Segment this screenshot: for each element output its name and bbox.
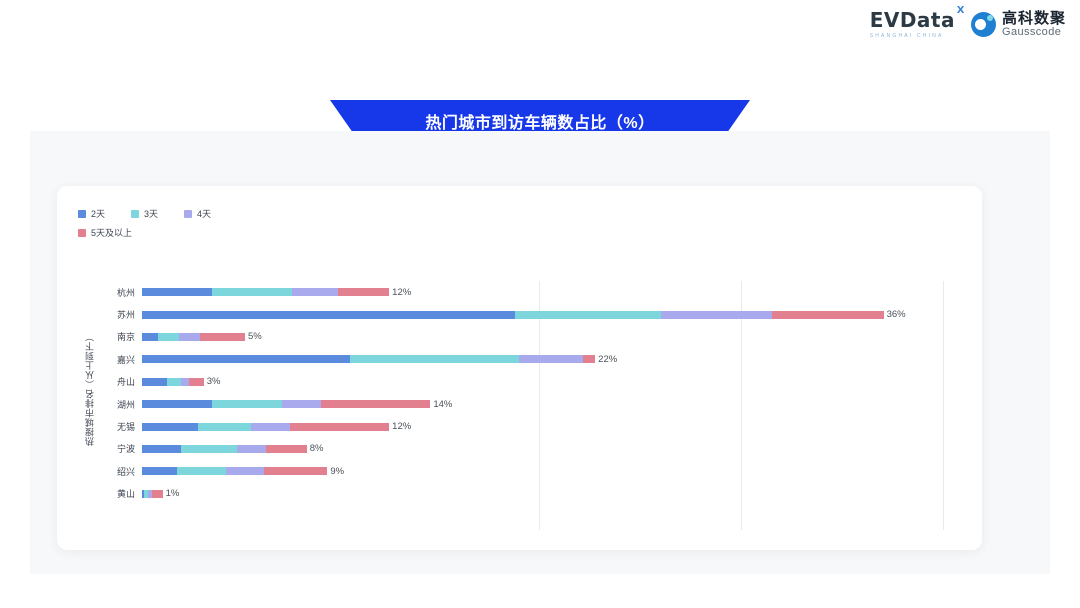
chart-row: 南京5%	[98, 326, 972, 348]
gausscode-name-cn: 高科数聚	[1002, 11, 1066, 27]
bar-segment[interactable]	[181, 445, 237, 453]
chart-card: 2天3天4天5天及以上 热搜城市排名（从上到下） 杭州12%苏州36%南京5%嘉…	[57, 186, 982, 550]
bar-segment[interactable]	[266, 445, 307, 453]
chart-row: 舟山3%	[98, 371, 972, 393]
bar-segment[interactable]	[264, 467, 328, 475]
bar-value-label: 5%	[248, 331, 262, 342]
bar-with-label: 36%	[142, 309, 906, 320]
category-label: 无锡	[98, 420, 142, 433]
bar-segment[interactable]	[142, 355, 350, 363]
bar-with-label: 1%	[142, 488, 179, 499]
bar-segment[interactable]	[142, 378, 167, 386]
bar-area: 3%	[142, 371, 972, 393]
bar-segment[interactable]	[158, 333, 179, 341]
category-label: 宁波	[98, 442, 142, 455]
category-label: 绍兴	[98, 465, 142, 478]
bar-segment[interactable]	[142, 423, 198, 431]
bar-value-label: 3%	[207, 376, 221, 387]
bar-segment[interactable]	[179, 333, 200, 341]
bar-segment[interactable]	[292, 288, 337, 296]
bar-segment[interactable]	[189, 378, 203, 386]
bar-area: 22%	[142, 348, 972, 370]
bar-segment[interactable]	[198, 423, 252, 431]
chart-row: 湖州14%	[98, 393, 972, 415]
stacked-bar[interactable]	[142, 378, 204, 386]
category-label: 南京	[98, 330, 142, 343]
bar-value-label: 12%	[392, 287, 411, 298]
category-label: 杭州	[98, 286, 142, 299]
bar-segment[interactable]	[237, 445, 266, 453]
bar-with-label: 22%	[142, 354, 617, 365]
bar-area: 1%	[142, 483, 972, 505]
category-label: 苏州	[98, 308, 142, 321]
chart-row: 嘉兴22%	[98, 348, 972, 370]
stacked-bar[interactable]	[142, 490, 163, 498]
evdata-logo: EVData X SHANGHAI CHINA	[870, 10, 955, 39]
gausscode-mark-icon	[971, 12, 996, 37]
stacked-bar[interactable]	[142, 423, 389, 431]
bar-segment[interactable]	[350, 355, 519, 363]
category-label: 嘉兴	[98, 353, 142, 366]
gausscode-name-en: Gausscode	[1002, 27, 1066, 39]
bar-with-label: 12%	[142, 421, 411, 432]
bar-with-label: 8%	[142, 443, 323, 454]
evdata-wordmark: EVData X	[870, 10, 955, 30]
bar-segment[interactable]	[142, 311, 515, 319]
bar-segment[interactable]	[142, 288, 212, 296]
gausscode-dot-icon	[987, 15, 993, 21]
bar-area: 9%	[142, 460, 972, 482]
bar-segment[interactable]	[772, 311, 883, 319]
gausscode-logo: 高科数聚 Gausscode	[971, 11, 1066, 38]
bar-value-label: 22%	[598, 354, 617, 365]
bar-with-label: 5%	[142, 331, 262, 342]
stacked-bar[interactable]	[142, 467, 327, 475]
bar-segment[interactable]	[167, 378, 181, 386]
y-axis-title: 热搜城市排名（从上到下）	[82, 284, 96, 494]
bar-segment[interactable]	[226, 467, 263, 475]
bar-segment[interactable]	[583, 355, 595, 363]
bar-segment[interactable]	[212, 400, 282, 408]
bar-segment[interactable]	[200, 333, 245, 341]
bar-segment[interactable]	[321, 400, 430, 408]
bar-segment[interactable]	[142, 400, 212, 408]
evdata-superscript: X	[957, 6, 965, 16]
brand-logo-bar: EVData X SHANGHAI CHINA 高科数聚 Gausscode	[870, 10, 1066, 39]
bar-segment[interactable]	[282, 400, 321, 408]
category-label: 黄山	[98, 487, 142, 500]
bar-area: 12%	[142, 281, 972, 303]
bar-area: 12%	[142, 415, 972, 437]
bar-value-label: 36%	[887, 309, 906, 320]
bar-with-label: 9%	[142, 466, 344, 477]
chart-row: 无锡12%	[98, 415, 972, 437]
stacked-bar[interactable]	[142, 400, 430, 408]
bar-area: 5%	[142, 326, 972, 348]
bar-segment[interactable]	[212, 288, 292, 296]
bar-with-label: 14%	[142, 399, 452, 410]
bar-segment[interactable]	[661, 311, 772, 319]
bar-area: 14%	[142, 393, 972, 415]
category-label: 湖州	[98, 398, 142, 411]
bar-segment[interactable]	[177, 467, 226, 475]
category-label: 舟山	[98, 375, 142, 388]
evdata-wordmark-text: EVData	[870, 8, 955, 32]
stacked-bar[interactable]	[142, 355, 595, 363]
stacked-bar[interactable]	[142, 311, 884, 319]
bar-value-label: 8%	[310, 443, 324, 454]
bar-segment[interactable]	[515, 311, 661, 319]
bar-segment[interactable]	[142, 467, 177, 475]
chart-plot-area: 热搜城市排名（从上到下） 杭州12%苏州36%南京5%嘉兴22%舟山3%湖州14…	[57, 186, 982, 550]
chart-row: 绍兴9%	[98, 460, 972, 482]
bar-area: 36%	[142, 303, 972, 325]
bar-area: 8%	[142, 438, 972, 460]
stacked-bar[interactable]	[142, 288, 389, 296]
bar-segment[interactable]	[152, 490, 162, 498]
bar-segment[interactable]	[142, 445, 181, 453]
page-title: 热门城市到访车辆数占比（%）	[425, 109, 654, 133]
chart-row: 黄山1%	[98, 483, 972, 505]
bar-segment[interactable]	[251, 423, 290, 431]
y-axis-title-label: 热搜城市排名（从上到下）	[83, 332, 96, 446]
bar-with-label: 3%	[142, 376, 221, 387]
bar-value-label: 12%	[392, 421, 411, 432]
bar-segment[interactable]	[142, 333, 158, 341]
bar-segment[interactable]	[519, 355, 583, 363]
chart-bar-rows: 杭州12%苏州36%南京5%嘉兴22%舟山3%湖州14%无锡12%宁波8%绍兴9…	[98, 281, 972, 508]
chart-row: 宁波8%	[98, 438, 972, 460]
chart-row: 苏州36%	[98, 303, 972, 325]
bar-value-label: 14%	[433, 399, 452, 410]
bar-segment[interactable]	[290, 423, 389, 431]
stacked-bar[interactable]	[142, 333, 245, 341]
chart-row: 杭州12%	[98, 281, 972, 303]
bar-segment[interactable]	[338, 288, 390, 296]
stacked-bar[interactable]	[142, 445, 307, 453]
bar-segment[interactable]	[181, 378, 189, 386]
bar-value-label: 9%	[330, 466, 344, 477]
bar-value-label: 1%	[166, 488, 180, 499]
bar-with-label: 12%	[142, 287, 411, 298]
evdata-tagline: SHANGHAI CHINA	[870, 33, 944, 39]
